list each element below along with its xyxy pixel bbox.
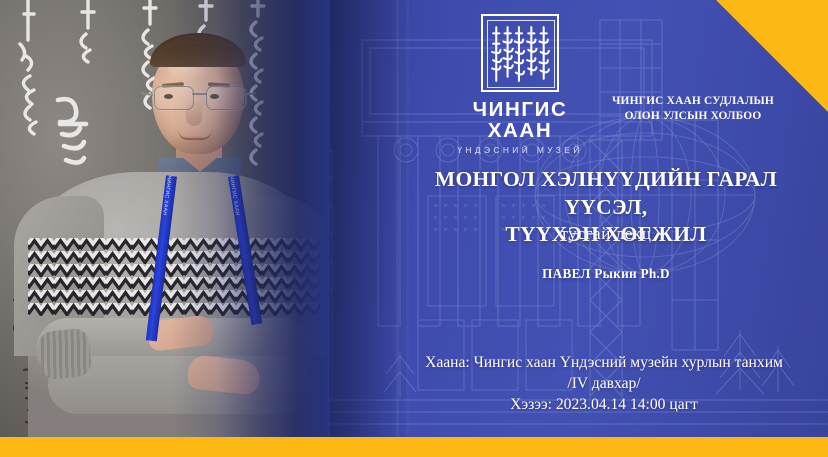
event-poster: ЧИНГИС ХААН ЧИНГИС ХААН <box>0 0 828 457</box>
photo-blue-fade-overlay <box>0 0 330 457</box>
venue-line-2: /IV давхар/ <box>380 373 828 394</box>
event-datetime: Хэзээ: 2023.04.14 14:00 цагт <box>380 394 828 415</box>
speaker-photo: ЧИНГИС ХААН ЧИНГИС ХААН <box>0 0 330 457</box>
event-details: Хаана: Чингис хаан Үндэсний музейн хурлы… <box>380 352 828 416</box>
mongolian-script-emblem-icon <box>481 14 559 92</box>
emblem-inner-frame <box>487 20 555 88</box>
association-line-1: ЧИНГИС ХААН СУДЛАЛЫН <box>598 94 788 109</box>
association-line-2: ОЛОН УЛСЫН ХОЛБОО <box>598 109 788 124</box>
museum-logo: ЧИНГИС ХААН ҮНДЭСНИЙ МУЗЕЙ <box>455 14 585 154</box>
museum-name: ЧИНГИС ХААН <box>455 100 585 141</box>
lecture-type: тусгай лекц <box>396 224 816 244</box>
lecture-title-line-1: МОНГОЛ ХЭЛНҮҮДИЙН ГАРАЛ ҮҮСЭЛ, <box>396 166 816 221</box>
association-name: ЧИНГИС ХААН СУДЛАЛЫН ОЛОН УЛСЫН ХОЛБОО <box>598 94 788 125</box>
venue-line-1: Хаана: Чингис хаан Үндэсний музейн хурлы… <box>380 352 828 373</box>
speaker-name: ПАВЕЛ Рыкин Ph.D <box>396 266 816 282</box>
museum-subtitle: ҮНДЭСНИЙ МУЗЕЙ <box>455 146 585 154</box>
yellow-bottom-bar <box>0 437 828 457</box>
